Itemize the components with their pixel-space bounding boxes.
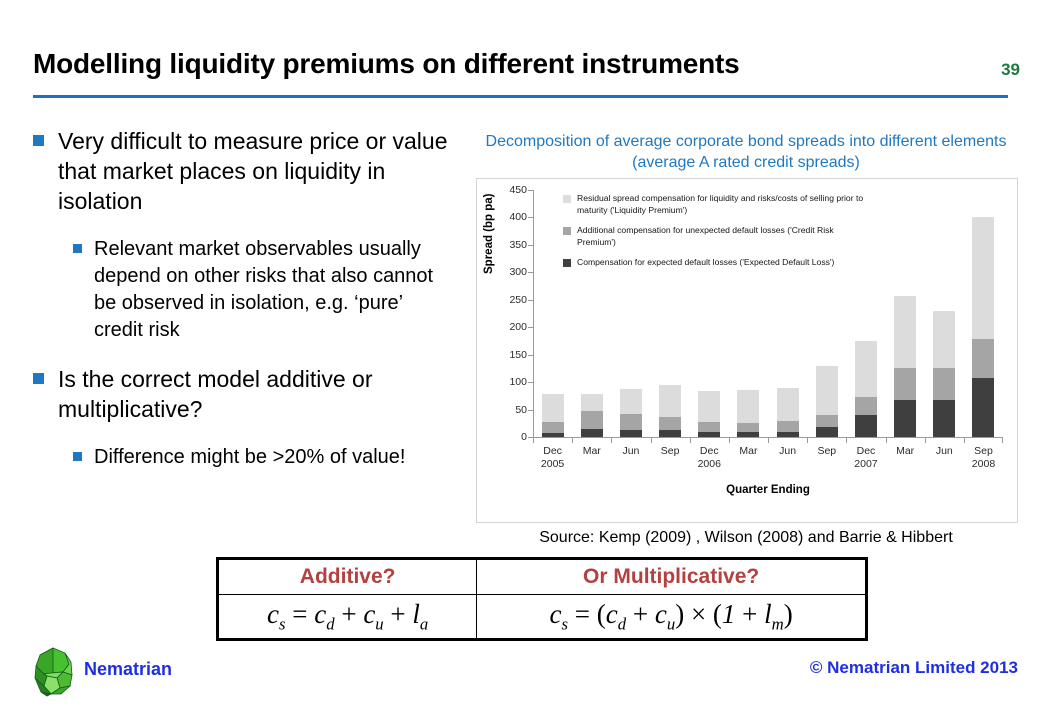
x-axis-tickmarks (533, 438, 1003, 443)
bar-segment (542, 422, 564, 433)
y-axis-tick-label: 150 (509, 349, 527, 361)
x-axis-tick-label: Sep (807, 445, 846, 471)
y-axis-tick-label: 100 (509, 376, 527, 388)
stacked-bar[interactable] (620, 389, 642, 437)
bar-slot (964, 190, 1003, 437)
legend-swatch-icon (563, 227, 571, 235)
page-title: Modelling liquidity premiums on differen… (33, 48, 740, 80)
bullet-item-4: Difference might be >20% of value! (73, 444, 453, 471)
bar-segment (777, 432, 799, 437)
x-axis-tick-label: Jun (925, 445, 964, 471)
chart-block: Decomposition of average corporate bond … (468, 131, 1024, 523)
table-row: cs = cd + cu + la cs = (cd + cu) × (1 + … (219, 595, 866, 639)
bar-segment (855, 397, 877, 415)
stacked-bar[interactable] (737, 390, 759, 437)
x-axis-tick-mark (690, 438, 729, 443)
bar-segment (972, 339, 994, 377)
bullet-item-3: Is the correct model additive or multipl… (33, 364, 453, 424)
y-axis-tick-label: 200 (509, 321, 527, 333)
x-label-year: 2007 (846, 458, 885, 471)
nematrian-logo-icon (27, 646, 79, 698)
bullet-spacer (33, 430, 453, 444)
bar-segment (542, 394, 564, 421)
bar-segment (698, 422, 720, 432)
legend-item[interactable]: Additional compensation for unexpected d… (563, 225, 873, 248)
bullet-spacer (33, 222, 453, 236)
bullet-spacer (33, 350, 453, 364)
bullet-item-2: Relevant market observables usually depe… (73, 236, 453, 344)
bullet-text: Is the correct model additive or multipl… (58, 364, 453, 424)
x-axis-tick-mark (611, 438, 650, 443)
formula-table: Additive? Or Multiplicative? cs = cd + c… (216, 557, 868, 641)
y-axis-tick-label: 0 (521, 431, 527, 443)
x-label-month: Jun (779, 445, 796, 457)
y-axis-tick-label: 450 (509, 184, 527, 196)
bar-segment (816, 427, 838, 437)
x-label-year: 2005 (533, 458, 572, 471)
bar-segment (737, 432, 759, 437)
copyright-text: © Nematrian Limited 2013 (810, 658, 1018, 678)
bar-segment (581, 429, 603, 437)
x-axis-tick-mark (533, 438, 572, 443)
bar-segment (659, 430, 681, 437)
x-axis-tick-label: Dec2007 (846, 445, 885, 471)
bullet-marker-icon (33, 373, 44, 384)
legend-swatch-icon (563, 195, 571, 203)
x-label-month: Dec (700, 445, 719, 457)
chart-plot-area: Spread (bp pa) 0501001502002503003504004… (476, 178, 1018, 523)
bar-segment (737, 423, 759, 432)
formula-header-additive: Additive? (219, 560, 477, 595)
x-axis-labels: Dec2005Mar Jun Sep Dec2006Mar Jun Sep De… (533, 445, 1003, 471)
bar-segment (894, 400, 916, 437)
formula-multiplicative: cs = (cd + cu) × (1 + lm) (477, 595, 866, 639)
slide-header: Modelling liquidity premiums on differen… (0, 48, 1040, 104)
x-label-month: Dec (857, 445, 876, 457)
y-axis-tick-label: 50 (515, 404, 527, 416)
bullet-marker-icon (73, 452, 82, 461)
legend-item[interactable]: Compensation for expected default losses… (563, 257, 873, 269)
bar-segment (737, 390, 759, 422)
x-label-month: Mar (739, 445, 757, 457)
stacked-bar[interactable] (933, 311, 955, 437)
x-axis-tick-label: Jun (768, 445, 807, 471)
bar-segment (620, 389, 642, 414)
stacked-bar[interactable] (972, 217, 994, 437)
x-label-month: Jun (936, 445, 953, 457)
x-axis-tick-mark (886, 438, 925, 443)
x-axis-tick-label: Mar (729, 445, 768, 471)
x-axis-title: Quarter Ending (533, 484, 1003, 496)
x-label-month: Dec (543, 445, 562, 457)
stacked-bar[interactable] (542, 394, 564, 437)
x-label-year (925, 458, 964, 471)
bar-segment (659, 417, 681, 431)
x-axis-tick-label: Sep (651, 445, 690, 471)
y-axis-tick-label: 350 (509, 239, 527, 251)
x-axis-tick-mark (651, 438, 690, 443)
x-label-year (572, 458, 611, 471)
bar-segment (855, 341, 877, 398)
title-divider (33, 95, 1008, 98)
page-number: 39 (1001, 60, 1020, 80)
stacked-bar[interactable] (816, 366, 838, 437)
x-axis-tick-label: Dec2005 (533, 445, 572, 471)
x-axis-tick-label: Dec2006 (690, 445, 729, 471)
bullet-item-1: Very difficult to measure price or value… (33, 126, 453, 216)
x-axis-tick-mark (572, 438, 611, 443)
x-axis-tick-mark (729, 438, 768, 443)
bar-segment (894, 368, 916, 399)
x-label-year (729, 458, 768, 471)
x-label-month: Sep (661, 445, 680, 457)
legend-label: Compensation for expected default losses… (577, 257, 834, 269)
y-axis-ticks: 050100150200250300350400450 (491, 179, 533, 522)
bar-segment (933, 368, 955, 399)
formula-additive: cs = cd + cu + la (219, 595, 477, 639)
x-label-month: Mar (583, 445, 601, 457)
bullet-text: Very difficult to measure price or value… (58, 126, 453, 216)
x-axis-tick-mark (925, 438, 964, 443)
formula-header-multiplicative: Or Multiplicative? (477, 560, 866, 595)
bar-slot (886, 190, 925, 437)
stacked-bar[interactable] (581, 394, 603, 437)
bar-segment (816, 415, 838, 427)
x-label-year (886, 458, 925, 471)
stacked-bar[interactable] (698, 391, 720, 437)
x-label-year (651, 458, 690, 471)
bar-segment (933, 311, 955, 369)
bar-segment (698, 432, 720, 437)
bar-segment (698, 391, 720, 421)
chart-title: Decomposition of average corporate bond … (468, 131, 1024, 173)
stacked-bar[interactable] (777, 388, 799, 437)
x-axis-tick-label: Mar (886, 445, 925, 471)
legend-label: Residual spread compensation for liquidi… (577, 193, 873, 216)
stacked-bar[interactable] (659, 385, 681, 437)
x-label-year (768, 458, 807, 471)
bar-segment (933, 400, 955, 437)
x-axis-tick-mark (964, 438, 1003, 443)
bullet-text: Relevant market observables usually depe… (94, 236, 453, 344)
legend-item[interactable]: Residual spread compensation for liquidi… (563, 193, 873, 216)
bar-segment (581, 411, 603, 430)
bar-segment (620, 430, 642, 437)
x-label-month: Mar (896, 445, 914, 457)
y-axis-tick-label: 400 (509, 211, 527, 223)
bullet-list: Very difficult to measure price or value… (33, 126, 453, 477)
bar-slot (925, 190, 964, 437)
bar-segment (542, 433, 564, 437)
brand-name: Nematrian (84, 659, 172, 680)
x-label-month: Sep (974, 445, 993, 457)
chart-legend: Residual spread compensation for liquidi… (563, 193, 873, 278)
bullet-text: Difference might be >20% of value! (94, 444, 405, 471)
bar-segment (972, 378, 994, 437)
x-axis-tick-mark (846, 438, 885, 443)
bar-segment (581, 394, 603, 410)
x-label-month: Sep (817, 445, 836, 457)
bar-segment (972, 217, 994, 339)
bar-segment (777, 421, 799, 432)
x-axis-tick-mark (807, 438, 846, 443)
bar-segment (620, 414, 642, 430)
bar-segment (816, 366, 838, 415)
source-note: Source: Kemp (2009) , Wilson (2008) and … (468, 529, 1024, 547)
y-axis-tick-label: 250 (509, 294, 527, 306)
x-label-year: 2008 (964, 458, 1003, 471)
x-axis-tick-label: Mar (572, 445, 611, 471)
bar-segment (855, 415, 877, 437)
stacked-bar[interactable] (855, 341, 877, 437)
x-axis-tick-label: Jun (611, 445, 650, 471)
y-axis-tick-label: 300 (509, 266, 527, 278)
bar-segment (777, 388, 799, 421)
stacked-bar[interactable] (894, 296, 916, 437)
bullet-marker-icon (73, 244, 82, 253)
bullet-marker-icon (33, 135, 44, 146)
x-axis-tick-mark (768, 438, 807, 443)
table-row: Additive? Or Multiplicative? (219, 560, 866, 595)
legend-label: Additional compensation for unexpected d… (577, 225, 873, 248)
bar-segment (894, 296, 916, 368)
x-axis-tick-label: Sep2008 (964, 445, 1003, 471)
legend-swatch-icon (563, 259, 571, 267)
x-label-year (807, 458, 846, 471)
x-label-year (611, 458, 650, 471)
bar-segment (659, 385, 681, 417)
x-label-month: Jun (622, 445, 639, 457)
x-label-year: 2006 (690, 458, 729, 471)
